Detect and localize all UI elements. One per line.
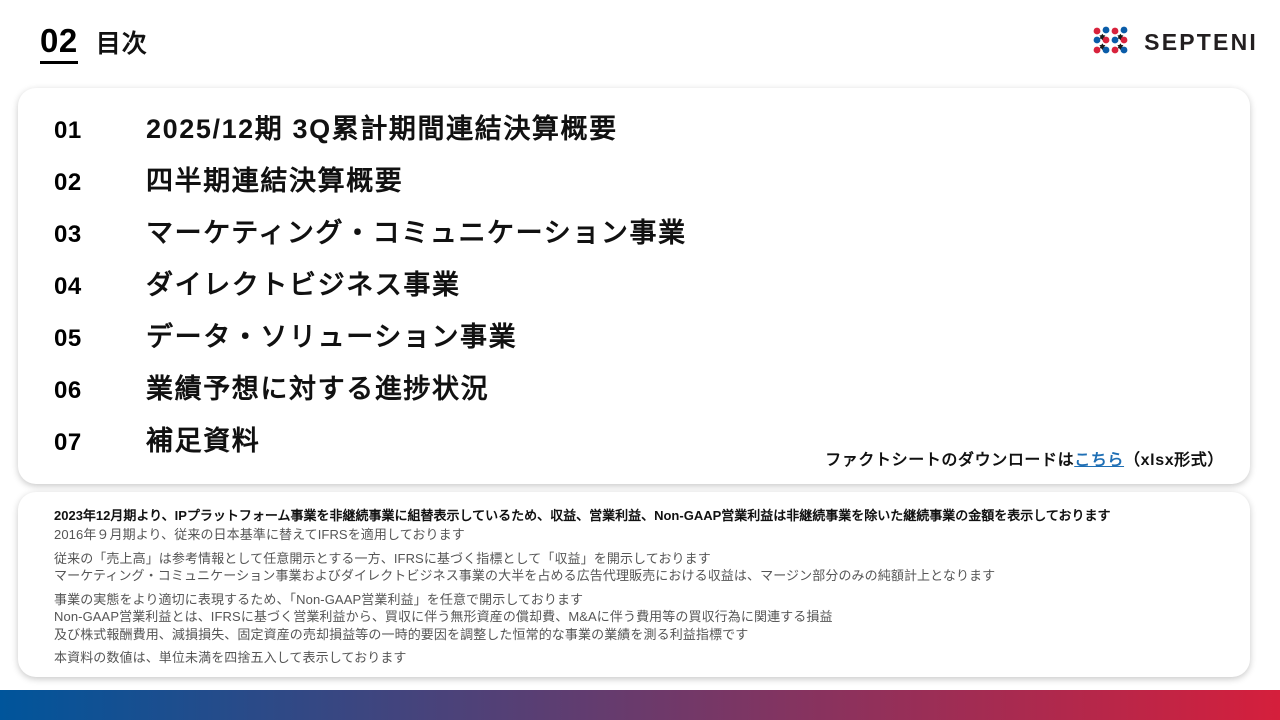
toc-number: 02 [54, 169, 146, 197]
page-heading: 02 目次 [40, 24, 148, 64]
toc-number: 01 [54, 117, 146, 145]
toc-label: 業績予想に対する進捗状況 [146, 367, 489, 406]
factsheet-download-note: ファクトシートのダウンロードはこちら（xlsx形式） [825, 446, 1224, 470]
septeni-dot-matrix-icon [1092, 26, 1134, 59]
page-title: 目次 [96, 32, 148, 57]
footnote-line: 及び株式報酬費用、減損損失、固定資産の売却損益等の一時的要因を調整した恒常的な事… [54, 626, 1234, 644]
factsheet-prefix-text: ファクトシートのダウンロードは [825, 452, 1074, 469]
toc-number: 05 [54, 325, 146, 353]
toc-label: データ・ソリューション事業 [146, 315, 517, 354]
toc-item-07[interactable]: 07 補足資料 ファクトシートのダウンロードはこちら（xlsx形式） [54, 419, 1234, 471]
toc-label: マーケティング・コミュニケーション事業 [146, 211, 687, 250]
table-of-contents-list: 01 2025/12期 3Q累計期間連結決算概要 02 四半期連結決算概要 03… [54, 107, 1234, 471]
footnotes-card: 2023年12月期より、IPプラットフォーム事業を非継続事業に組替表示しているた… [18, 492, 1250, 677]
toc-number: 04 [54, 273, 146, 301]
footnote-line: 本資料の数値は、単位未満を四捨五入して表示しております [54, 649, 1234, 667]
toc-number: 03 [54, 221, 146, 249]
footnotes-list: 2023年12月期より、IPプラットフォーム事業を非継続事業に組替表示しているた… [54, 506, 1234, 667]
page-number: 02 [40, 24, 78, 64]
bottom-gradient-bar [0, 690, 1280, 720]
toc-label: 補足資料 [146, 419, 260, 458]
toc-label: 2025/12期 3Q累計期間連結決算概要 [146, 107, 618, 146]
table-of-contents-card: 01 2025/12期 3Q累計期間連結決算概要 02 四半期連結決算概要 03… [18, 88, 1250, 484]
footnote-line: 従来の「売上高」は参考情報として任意開示とする一方、IFRSに基づく指標として「… [54, 550, 1234, 568]
footnote-line: Non-GAAP営業利益とは、IFRSに基づく営業利益から、買収に伴う無形資産の… [54, 608, 1234, 626]
page-header: 02 目次 [0, 0, 1280, 88]
toc-item-04[interactable]: 04 ダイレクトビジネス事業 [54, 263, 1234, 315]
toc-item-01[interactable]: 01 2025/12期 3Q累計期間連結決算概要 [54, 107, 1234, 159]
toc-number: 07 [54, 429, 146, 457]
factsheet-download-link[interactable]: こちら [1074, 452, 1124, 469]
septeni-logo-text: SEPTENI [1144, 31, 1258, 54]
toc-number: 06 [54, 377, 146, 405]
footnote-line: マーケティング・コミュニケーション事業およびダイレクトビジネス事業の大半を占める… [54, 567, 1234, 585]
footnote-line: 2016年９月期より、従来の日本基準に替えてIFRSを適用しております [54, 526, 1234, 544]
toc-item-02[interactable]: 02 四半期連結決算概要 [54, 159, 1234, 211]
footnote-line: 事業の実態をより適切に表現するため、「Non-GAAP営業利益」を任意で開示して… [54, 591, 1234, 609]
septeni-logo: SEPTENI [1092, 26, 1258, 59]
toc-item-03[interactable]: 03 マーケティング・コミュニケーション事業 [54, 211, 1234, 263]
toc-label: 四半期連結決算概要 [146, 159, 403, 198]
toc-label: ダイレクトビジネス事業 [146, 263, 461, 302]
toc-item-06[interactable]: 06 業績予想に対する進捗状況 [54, 367, 1234, 419]
footnote-line: 2023年12月期より、IPプラットフォーム事業を非継続事業に組替表示しているた… [54, 506, 1234, 526]
factsheet-suffix-text: （xlsx形式） [1124, 452, 1224, 469]
toc-item-05[interactable]: 05 データ・ソリューション事業 [54, 315, 1234, 367]
